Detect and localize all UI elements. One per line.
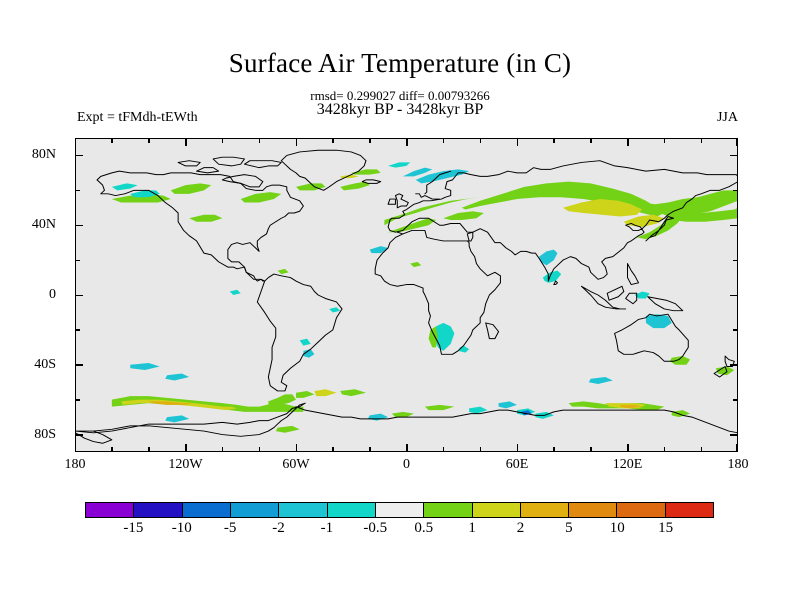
lat-tick--60 bbox=[75, 399, 80, 401]
lon-tick-top-40 bbox=[480, 138, 482, 143]
lat-tick-right--80 bbox=[730, 434, 738, 436]
lon-tick-top--100 bbox=[222, 138, 224, 143]
coastline-segment-14 bbox=[362, 180, 380, 183]
lon-tick-100 bbox=[590, 447, 592, 452]
colorbar-segment-3 bbox=[231, 503, 279, 517]
anomaly-patch-56 bbox=[276, 426, 300, 433]
coastline-segment-30 bbox=[554, 281, 558, 284]
lat-tick--40 bbox=[75, 364, 83, 366]
lon-tick-top--120 bbox=[185, 138, 187, 146]
lon-tick-top--80 bbox=[259, 138, 261, 143]
lat-tick-60 bbox=[75, 190, 80, 192]
season-label: JJA bbox=[717, 110, 738, 126]
lon-tick-40 bbox=[480, 447, 482, 452]
anomaly-patch-29 bbox=[300, 339, 311, 346]
lon-tick-0 bbox=[406, 444, 408, 452]
colorbar-segment-5 bbox=[328, 503, 376, 517]
lon-tick--120 bbox=[185, 444, 187, 452]
lon-tick--20 bbox=[369, 447, 371, 452]
coastline-segment-27 bbox=[581, 286, 625, 309]
anomaly-patch-59 bbox=[410, 262, 421, 267]
coastline-segment-17 bbox=[197, 168, 219, 173]
lon-tick-top--180 bbox=[75, 138, 77, 146]
anomaly-patch-34 bbox=[165, 374, 189, 381]
lat-tick-right-60 bbox=[733, 190, 738, 192]
coastline-segment-28 bbox=[607, 286, 624, 300]
coastline-segment-26 bbox=[628, 264, 639, 285]
lon-tick-140 bbox=[664, 447, 666, 452]
anomaly-patch-39 bbox=[268, 394, 296, 404]
lon-tick-60 bbox=[517, 444, 519, 452]
anomaly-patch-52 bbox=[392, 412, 414, 417]
map-plot-area bbox=[75, 138, 738, 452]
latitude-label-80N: 80N bbox=[0, 148, 56, 162]
lon-tick--40 bbox=[332, 447, 334, 452]
lon-tick-160 bbox=[701, 447, 703, 452]
longitude-label-60W: 60W bbox=[256, 458, 336, 472]
lon-tick-top-60 bbox=[517, 138, 519, 146]
colorbar-segment-0 bbox=[86, 503, 134, 517]
colorbar[interactable] bbox=[85, 502, 714, 518]
anomaly-patch-26 bbox=[429, 326, 438, 347]
anomaly-patch-42 bbox=[340, 389, 366, 396]
anomaly-patch-9 bbox=[171, 183, 212, 193]
colorbar-segment-12 bbox=[666, 503, 713, 517]
colorbar-segment-7 bbox=[424, 503, 472, 517]
lon-tick-top-20 bbox=[443, 138, 445, 143]
lat-tick--80 bbox=[75, 434, 83, 436]
anomaly-patch-33 bbox=[130, 363, 159, 370]
lon-tick-top-100 bbox=[590, 138, 592, 143]
anomaly-patch-10 bbox=[189, 215, 222, 222]
anomaly-patch-41 bbox=[314, 389, 336, 396]
lat-tick-20 bbox=[75, 260, 80, 262]
colorbar-segment-2 bbox=[183, 503, 231, 517]
colorbar-segment-4 bbox=[279, 503, 327, 517]
lon-tick--100 bbox=[222, 447, 224, 452]
colorbar-segment-8 bbox=[473, 503, 521, 517]
longitude-label-180: 180 bbox=[35, 458, 115, 472]
lat-tick--20 bbox=[75, 329, 80, 331]
coastline-segment-10 bbox=[486, 323, 499, 339]
latitude-label-40S: 40S bbox=[0, 358, 56, 372]
coastline-segment-1 bbox=[397, 230, 471, 240]
coastline-segment-6 bbox=[395, 194, 408, 208]
longitude-label-180: 180 bbox=[698, 458, 778, 472]
world-map bbox=[75, 138, 738, 452]
latitude-label-40N: 40N bbox=[0, 218, 56, 232]
lat-tick-80 bbox=[75, 155, 83, 157]
lon-tick-top-140 bbox=[664, 138, 666, 143]
lon-tick--60 bbox=[296, 444, 298, 452]
anomaly-patch-31 bbox=[670, 356, 690, 365]
lon-tick-top--60 bbox=[296, 138, 298, 146]
coastline-segment-18 bbox=[178, 161, 200, 166]
lon-tick-top-180 bbox=[736, 138, 738, 146]
lon-tick--160 bbox=[111, 447, 113, 452]
lat-tick-0 bbox=[75, 295, 83, 297]
anomaly-patch-40 bbox=[296, 391, 314, 398]
anomaly-patch-58 bbox=[329, 307, 340, 312]
lon-tick-top-80 bbox=[553, 138, 555, 143]
anomaly-patch-53 bbox=[368, 414, 388, 421]
coastline-segment-29 bbox=[626, 293, 637, 303]
lon-tick-top-0 bbox=[406, 138, 408, 146]
coastline-segment-16 bbox=[213, 157, 244, 166]
anomaly-patch-11 bbox=[241, 192, 282, 202]
lon-tick-top--160 bbox=[111, 138, 113, 143]
coastline-segment-11 bbox=[97, 180, 265, 281]
colorbar-segment-11 bbox=[617, 503, 665, 517]
latitude-label-80S: 80S bbox=[0, 428, 56, 442]
lon-tick-20 bbox=[443, 447, 445, 452]
longitude-label-120E: 120E bbox=[588, 458, 668, 472]
coastline-segment-4 bbox=[416, 194, 440, 199]
longitude-label-0: 0 bbox=[367, 458, 447, 472]
longitude-label-120W: 120W bbox=[146, 458, 226, 472]
anomaly-patch-20 bbox=[388, 162, 410, 167]
lat-tick-right--60 bbox=[733, 399, 738, 401]
colorbar-segment-6 bbox=[376, 503, 424, 517]
lon-tick-80 bbox=[553, 447, 555, 452]
lon-tick--140 bbox=[148, 447, 150, 452]
lon-tick-top--20 bbox=[369, 138, 371, 143]
latitude-label-0: 0 bbox=[0, 288, 56, 302]
anomaly-patch-3 bbox=[624, 215, 665, 227]
anomaly-patch-45 bbox=[499, 401, 517, 408]
figure-canvas: Surface Air Temperature (in C) rmsd= 0.2… bbox=[0, 0, 800, 600]
coastline-segment-7 bbox=[388, 199, 395, 204]
lon-tick-top--140 bbox=[148, 138, 150, 143]
lon-tick-top-160 bbox=[701, 138, 703, 143]
anomaly-patch-43 bbox=[425, 405, 454, 410]
anomaly-patch-7 bbox=[443, 211, 484, 220]
coastline-segment-20 bbox=[257, 274, 342, 391]
lon-tick-top--40 bbox=[332, 138, 334, 143]
lat-tick-40 bbox=[75, 225, 83, 227]
colorbar-segment-10 bbox=[569, 503, 617, 517]
anomaly-patch-23 bbox=[370, 246, 388, 253]
colorbar-segment-9 bbox=[521, 503, 569, 517]
lon-tick-120 bbox=[627, 444, 629, 452]
lat-tick-right--20 bbox=[733, 329, 738, 331]
colorbar-label-15: 15 bbox=[636, 521, 696, 536]
anomaly-patch-55 bbox=[165, 415, 189, 422]
lat-tick-right-0 bbox=[730, 295, 738, 297]
anomaly-patch-30 bbox=[646, 314, 672, 328]
lon-tick--80 bbox=[259, 447, 261, 452]
lon-tick--180 bbox=[75, 444, 77, 452]
colorbar-segment-1 bbox=[134, 503, 182, 517]
anomaly-patch-35 bbox=[589, 377, 613, 384]
lon-tick-top-120 bbox=[627, 138, 629, 146]
page-title: Surface Air Temperature (in C) bbox=[0, 48, 800, 79]
lat-tick-right-80 bbox=[730, 155, 738, 157]
lon-tick-180 bbox=[736, 444, 738, 452]
experiment-label: Expt = tFMdh-tEWth bbox=[77, 110, 198, 126]
anomaly-patch-57 bbox=[278, 269, 289, 274]
longitude-label-60E: 60E bbox=[477, 458, 557, 472]
lat-tick-right--40 bbox=[730, 364, 738, 366]
lat-tick-right-40 bbox=[730, 225, 738, 227]
anomaly-patch-60 bbox=[230, 290, 241, 295]
anomaly-field-layer bbox=[112, 162, 738, 432]
coastline-segment-22 bbox=[648, 297, 683, 311]
lat-tick-right-20 bbox=[733, 260, 738, 262]
coastline-segment-15 bbox=[244, 161, 281, 168]
anomaly-patch-17 bbox=[112, 183, 138, 190]
